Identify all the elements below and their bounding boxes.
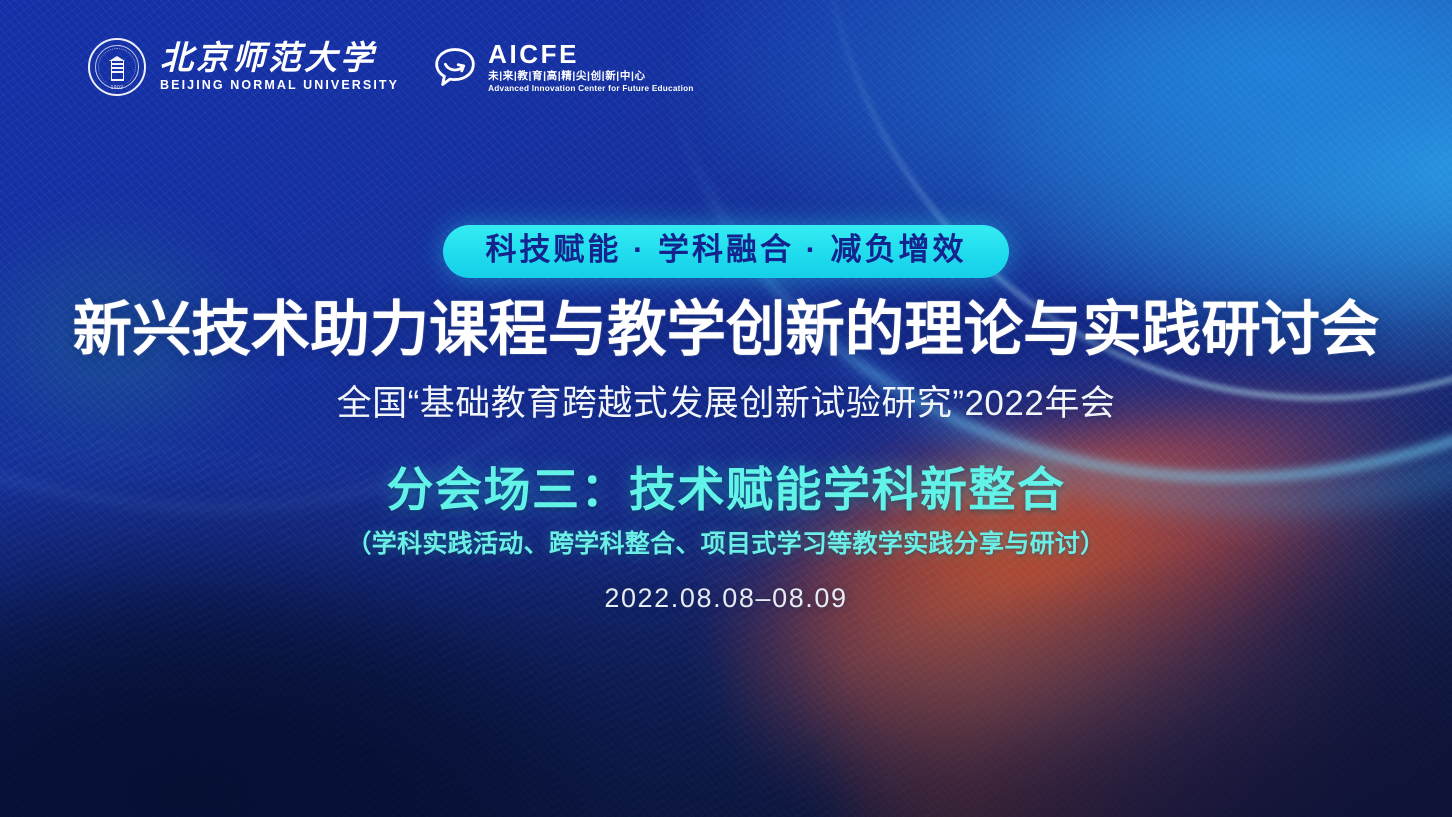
bnu-logo-text: 北京师范大学 BEIJING NORMAL UNIVERSITY [160, 43, 399, 92]
aicfe-name-en: Advanced Innovation Center for Future Ed… [488, 85, 694, 93]
bnu-name-en: BEIJING NORMAL UNIVERSITY [160, 79, 399, 92]
speech-bubble-icon [433, 45, 477, 89]
aicfe-logo-text: AICFE 未|来|教|育|高|精|尖|创|新|中|心 Advanced Inn… [488, 41, 694, 93]
theme-badge: 科技赋能 · 学科融合 · 减负增效 [443, 225, 1008, 278]
aicfe-logo: AICFE 未|来|教|育|高|精|尖|创|新|中|心 Advanced Inn… [429, 41, 694, 93]
bnu-logo: 1902 北京师范大学 BEIJING NORMAL UNIVERSITY [88, 38, 399, 96]
bnu-seal-icon: 1902 [88, 38, 146, 96]
conference-subtitle: 全国“基础教育跨越式发展创新试验研究”2022年会 [337, 383, 1116, 425]
conference-title: 新兴技术助力课程与教学创新的理论与实践研讨会 [73, 296, 1380, 363]
banner-content: 科技赋能 · 学科融合 · 减负增效 新兴技术助力课程与教学创新的理论与实践研讨… [0, 225, 1452, 612]
session-description: （学科实践活动、跨学科整合、项目式学习等教学实践分享与研讨） [346, 529, 1105, 559]
conference-banner: 1902 北京师范大学 BEIJING NORMAL UNIVERSITY AI… [0, 0, 1452, 817]
bnu-seal-year: 1902 [90, 85, 144, 91]
aicfe-acronym: AICFE [488, 41, 694, 67]
session-title: 分会场三：技术赋能学科新整合 [387, 463, 1066, 517]
aicfe-name-cn: 未|来|教|育|高|精|尖|创|新|中|心 [488, 70, 694, 82]
bnu-tower-icon [111, 61, 124, 81]
bnu-seal-emblem [105, 53, 129, 81]
bnu-name-cn: 北京师范大学 [160, 43, 399, 76]
logo-bar: 1902 北京师范大学 BEIJING NORMAL UNIVERSITY AI… [88, 38, 694, 96]
conference-date: 2022.08.08–08.09 [604, 585, 847, 612]
